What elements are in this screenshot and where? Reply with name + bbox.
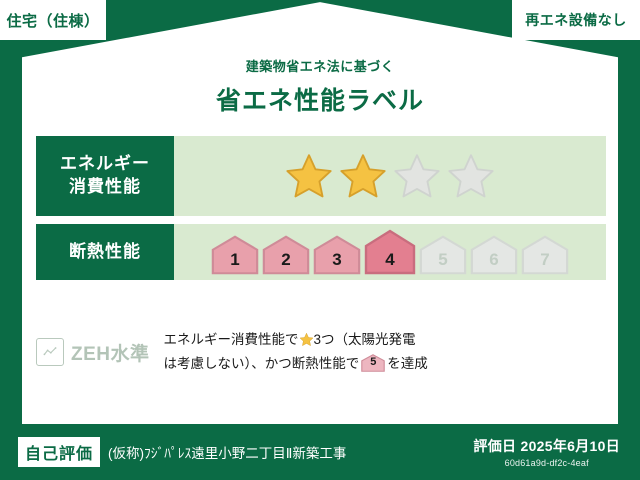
- star-filled-icon: [338, 151, 388, 201]
- insulation-level-number: 1: [211, 250, 259, 270]
- note-text-part3: は考慮しない）、かつ断熱性能で: [164, 356, 360, 371]
- insulation-level-7: 7: [521, 235, 569, 275]
- insulation-label: 断熱性能: [69, 241, 141, 264]
- insulation-level-number: 5: [419, 250, 467, 270]
- achievement-description: エネルギー消費性能で 3つ（太陽光発電 は考慮しない）、かつ断熱性能で 5 を達…: [164, 330, 596, 375]
- insulation-level-2: 2: [262, 235, 310, 275]
- note-text-part1: エネルギー消費性能で: [164, 332, 299, 347]
- building-type-tag: 住宅（住棟）: [0, 0, 106, 40]
- title-main: 省エネ性能ラベル: [0, 81, 640, 117]
- energy-performance-label: 住宅（住棟） 再エネ設備なし 建築物省エネ法に基づく 省エネ性能ラベル エネルギ…: [0, 0, 640, 480]
- note-text-part2: 3つ（太陽光発電: [314, 332, 416, 347]
- project-name: (仮称)ﾌｼﾞﾊﾟﾚｽ遠里小野二丁目Ⅱ新築工事: [108, 442, 346, 462]
- insulation-level-number: 4: [364, 250, 416, 270]
- insulation-level-number: 6: [470, 250, 518, 270]
- insulation-row-value: 1234567: [174, 224, 606, 280]
- star-empty-icon: [446, 151, 496, 201]
- insulation-row-label: 断熱性能: [36, 224, 174, 280]
- renewable-energy-tag: 再エネ設備なし: [512, 0, 640, 40]
- inline-level-badge-number: 5: [361, 354, 385, 371]
- energy-label-line1: エネルギー: [60, 153, 150, 176]
- evaluation-date: 評価日 2025年6月10日: [473, 436, 620, 456]
- insulation-level-5: 5: [419, 235, 467, 275]
- label-title-block: 建築物省エネ法に基づく 省エネ性能ラベル: [0, 56, 640, 117]
- energy-performance-row: エネルギー 消費性能: [36, 136, 606, 216]
- insulation-performance-row: 断熱性能 1234567: [36, 224, 606, 280]
- zeh-house-icon: [36, 338, 64, 366]
- evaluation-id: 60d61a9d-df2c-4eaf: [473, 458, 620, 468]
- star-rating: [284, 151, 496, 201]
- energy-row-value: [174, 136, 606, 216]
- zeh-label: ZEH水準: [71, 339, 150, 366]
- insulation-level-6: 6: [470, 235, 518, 275]
- note-text-part4: を達成: [387, 356, 428, 371]
- footer-left: 自己評価 (仮称)ﾌｼﾞﾊﾟﾚｽ遠里小野二丁目Ⅱ新築工事: [18, 437, 346, 467]
- footer-right: 評価日 2025年6月10日 60d61a9d-df2c-4eaf: [473, 436, 620, 468]
- insulation-level-number: 7: [521, 250, 569, 270]
- inline-star-icon: [299, 332, 314, 354]
- label-footer: 自己評価 (仮称)ﾌｼﾞﾊﾟﾚｽ遠里小野二丁目Ⅱ新築工事 評価日 2025年6月…: [0, 424, 640, 480]
- energy-label-line2: 消費性能: [69, 176, 141, 199]
- insulation-level-4: 4: [364, 229, 416, 275]
- star-filled-icon: [284, 151, 334, 201]
- insulation-level-number: 2: [262, 250, 310, 270]
- insulation-level-3: 3: [313, 235, 361, 275]
- insulation-level-scale: 1234567: [211, 229, 569, 275]
- inline-level-badge: 5: [361, 354, 385, 372]
- star-empty-icon: [392, 151, 442, 201]
- performance-rows: エネルギー 消費性能 断熱性能 1234567: [36, 136, 606, 288]
- insulation-level-1: 1: [211, 235, 259, 275]
- zeh-note: ZEH水準 エネルギー消費性能で 3つ（太陽光発電 は考慮しない）、かつ断熱性能…: [36, 330, 596, 375]
- insulation-level-number: 3: [313, 250, 361, 270]
- self-evaluation-badge: 自己評価: [18, 437, 100, 467]
- title-subtitle: 建築物省エネ法に基づく: [0, 56, 640, 75]
- energy-row-label: エネルギー 消費性能: [36, 136, 174, 216]
- zeh-standard-indicator: ZEH水準: [36, 338, 150, 366]
